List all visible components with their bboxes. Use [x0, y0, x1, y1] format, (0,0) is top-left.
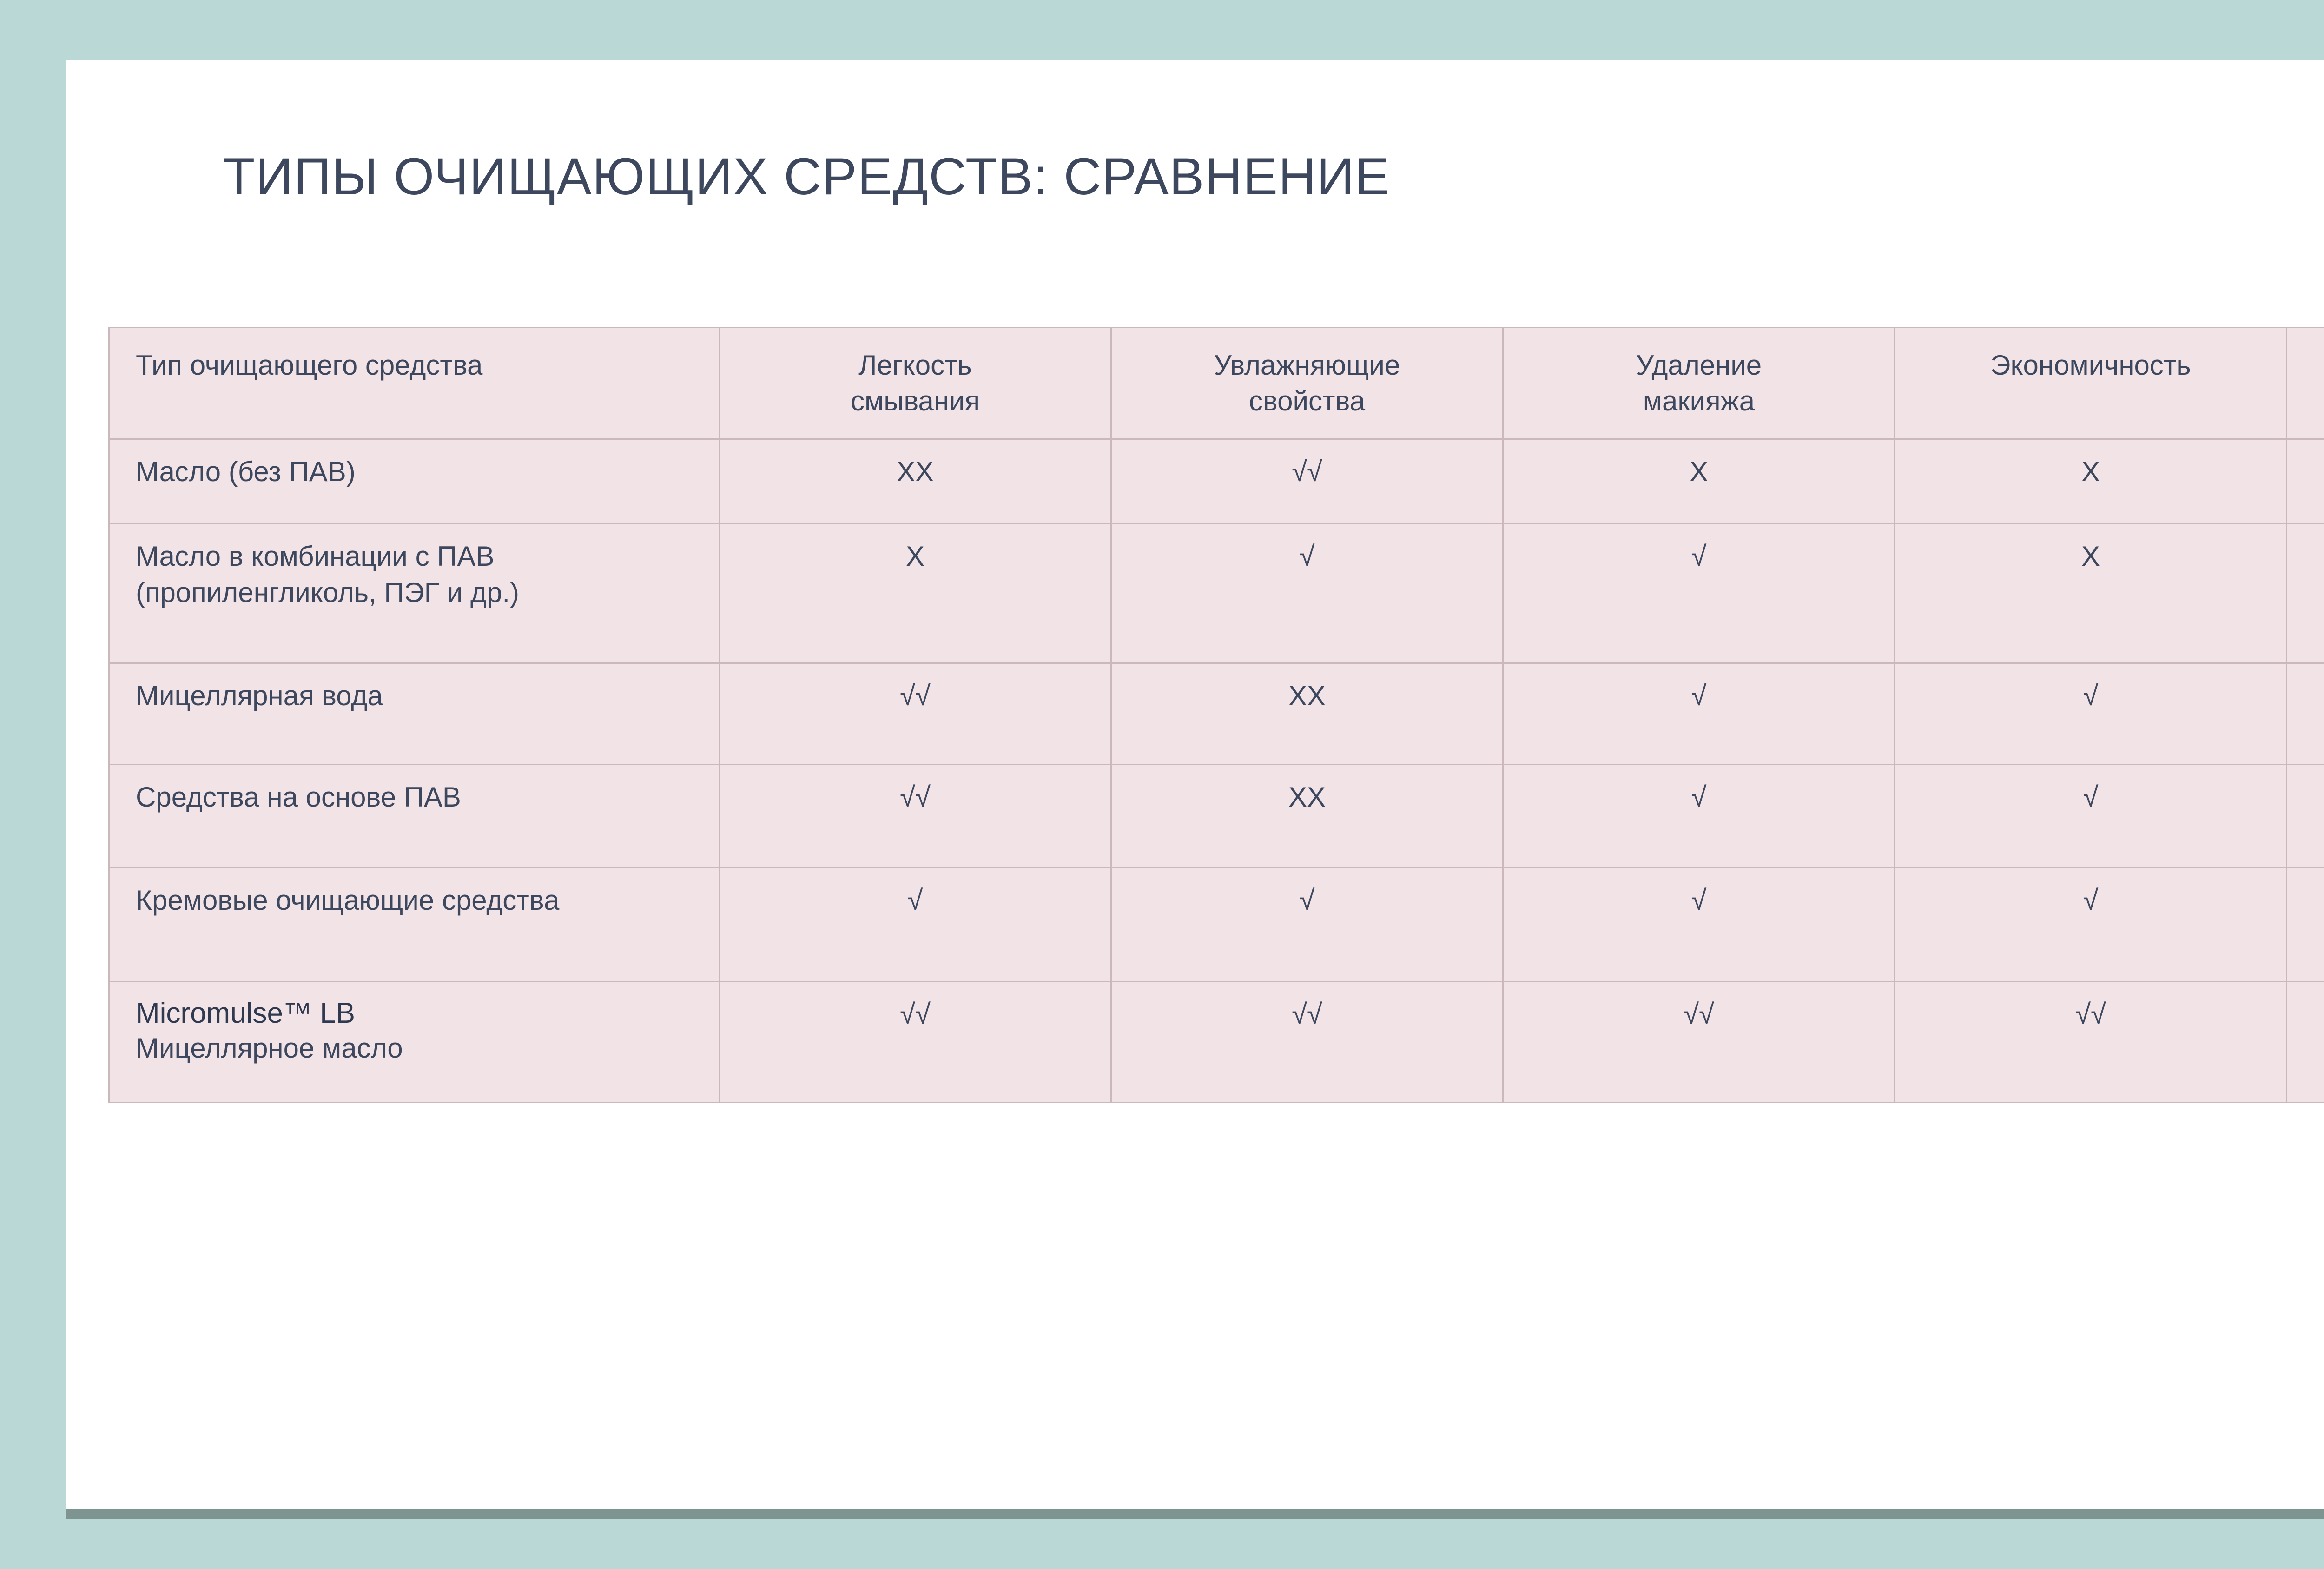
- column-header-label-line1: Легкость: [734, 348, 1096, 384]
- table-row: Мицеллярная вода √√ XX √ √ √: [109, 663, 2324, 765]
- rating-cell: √: [1895, 663, 2287, 765]
- column-header-transparency: Прозрачность: [2287, 328, 2324, 439]
- rating-cell: X: [720, 524, 1111, 663]
- rating-mark: √√: [1292, 454, 1322, 490]
- rating-mark: X: [906, 538, 924, 575]
- brand-descriptor: Мицеллярное масло: [136, 1031, 707, 1066]
- rating-cell: XX: [1111, 765, 1503, 868]
- rating-cell: √√: [1111, 439, 1503, 524]
- rating-cell: √√: [720, 765, 1111, 868]
- rating-cell: √: [1503, 765, 1895, 868]
- rating-cell: √√: [720, 663, 1111, 765]
- rating-mark: √: [908, 882, 923, 919]
- column-header-economy: Экономичность: [1895, 328, 2287, 439]
- rating-cell: √√: [2287, 982, 2324, 1103]
- column-header-label: Тип очищающего средства: [136, 348, 705, 384]
- rating-cell: XX: [720, 439, 1111, 524]
- rating-cell: √√: [1895, 982, 2287, 1103]
- table-row: Средства на основе ПАВ √√ XX √ √ √: [109, 765, 2324, 868]
- column-header-rinse-ease: Легкость смывания: [720, 328, 1111, 439]
- rating-mark: √: [2083, 678, 2099, 714]
- rating-cell: √: [2287, 524, 2324, 663]
- rating-cell: √: [1111, 868, 1503, 982]
- rating-cell: √: [2287, 765, 2324, 868]
- rating-mark: √√: [900, 779, 931, 815]
- rating-cell: √: [1111, 524, 1503, 663]
- table-row: Масло в комбинации с ПАВ (пропиленгликол…: [109, 524, 2324, 663]
- rating-mark: √: [2083, 779, 2099, 815]
- rating-cell: X: [1503, 439, 1895, 524]
- rating-mark: X: [2081, 538, 2100, 575]
- rating-cell: X: [1895, 524, 2287, 663]
- slide-frame: ТИПЫ ОЧИЩАЮЩИХ СРЕДСТВ: СРАВНЕНИЕ Тип оч…: [0, 0, 2324, 1569]
- rating-cell: √: [2287, 439, 2324, 524]
- rating-cell: √: [2287, 663, 2324, 765]
- table-row: Масло (без ПАВ) XX √√ X X √: [109, 439, 2324, 524]
- column-header-label: Прозрачность: [2301, 348, 2324, 384]
- column-header-label-line1: Удаление: [1518, 348, 1880, 384]
- rating-cell: XX: [1111, 663, 1503, 765]
- row-label: Кремовые очищающие средства: [109, 868, 720, 982]
- rating-cell: √: [720, 868, 1111, 982]
- rating-cell: √√: [1503, 982, 1895, 1103]
- rating-mark: √: [1691, 882, 1707, 919]
- rating-cell: √: [1895, 765, 2287, 868]
- table-header-row: Тип очищающего средства Легкость смывани…: [109, 328, 2324, 439]
- rating-mark: XX: [1288, 678, 1326, 714]
- rating-cell: √: [1503, 663, 1895, 765]
- rating-cell: √: [1895, 868, 2287, 982]
- bottom-accent-bar: [66, 1509, 2324, 1519]
- rating-mark: √: [1691, 538, 1707, 575]
- rating-mark: XX: [1288, 779, 1326, 815]
- comparison-table: Тип очищающего средства Легкость смывани…: [108, 327, 2324, 1103]
- rating-mark: √√: [2075, 996, 2106, 1033]
- rating-mark: √: [1691, 678, 1707, 714]
- rating-cell: XX: [2287, 868, 2324, 982]
- column-header-label-line2: макияжа: [1518, 384, 1880, 419]
- row-label: Средства на основе ПАВ: [109, 765, 720, 868]
- brand-name: Micromulse™ LB: [136, 996, 707, 1031]
- rating-cell: X: [1895, 439, 2287, 524]
- row-label: Мицеллярная вода: [109, 663, 720, 765]
- rating-mark: √: [1300, 882, 1315, 919]
- page-title: ТИПЫ ОЧИЩАЮЩИХ СРЕДСТВ: СРАВНЕНИЕ: [223, 147, 2324, 207]
- row-label: Масло в комбинации с ПАВ (пропиленгликол…: [109, 524, 720, 663]
- rating-mark: √√: [1684, 996, 1714, 1033]
- rating-mark: √: [1691, 779, 1707, 815]
- rating-mark: XX: [897, 454, 934, 490]
- rating-mark: √√: [1292, 996, 1322, 1033]
- rating-cell: √√: [720, 982, 1111, 1103]
- column-header-label-line2: свойства: [1126, 384, 1488, 419]
- rating-cell: √√: [1111, 982, 1503, 1103]
- column-header-label-line2: смывания: [734, 384, 1096, 419]
- row-label-brand: Micromulse™ LB Мицеллярное масло: [109, 982, 720, 1103]
- column-header-moisturizing: Увлажняющие свойства: [1111, 328, 1503, 439]
- rating-mark: √: [2083, 882, 2099, 919]
- table-row-highlight: Micromulse™ LB Мицеллярное масло √√ √√ √…: [109, 982, 2324, 1103]
- rating-mark: √√: [900, 678, 931, 714]
- row-label: Масло (без ПАВ): [109, 439, 720, 524]
- column-header-label-line1: Увлажняющие: [1126, 348, 1488, 384]
- rating-mark: √: [1300, 538, 1315, 575]
- column-header-label: Экономичность: [1909, 348, 2272, 384]
- table-row: Кремовые очищающие средства √ √ √ √ XX: [109, 868, 2324, 982]
- rating-mark: X: [1690, 454, 1708, 490]
- column-header-type: Тип очищающего средства: [109, 328, 720, 439]
- rating-cell: √: [1503, 524, 1895, 663]
- rating-mark: X: [2081, 454, 2100, 490]
- column-header-makeup-removal: Удаление макияжа: [1503, 328, 1895, 439]
- rating-mark: √√: [900, 996, 931, 1033]
- rating-cell: √: [1503, 868, 1895, 982]
